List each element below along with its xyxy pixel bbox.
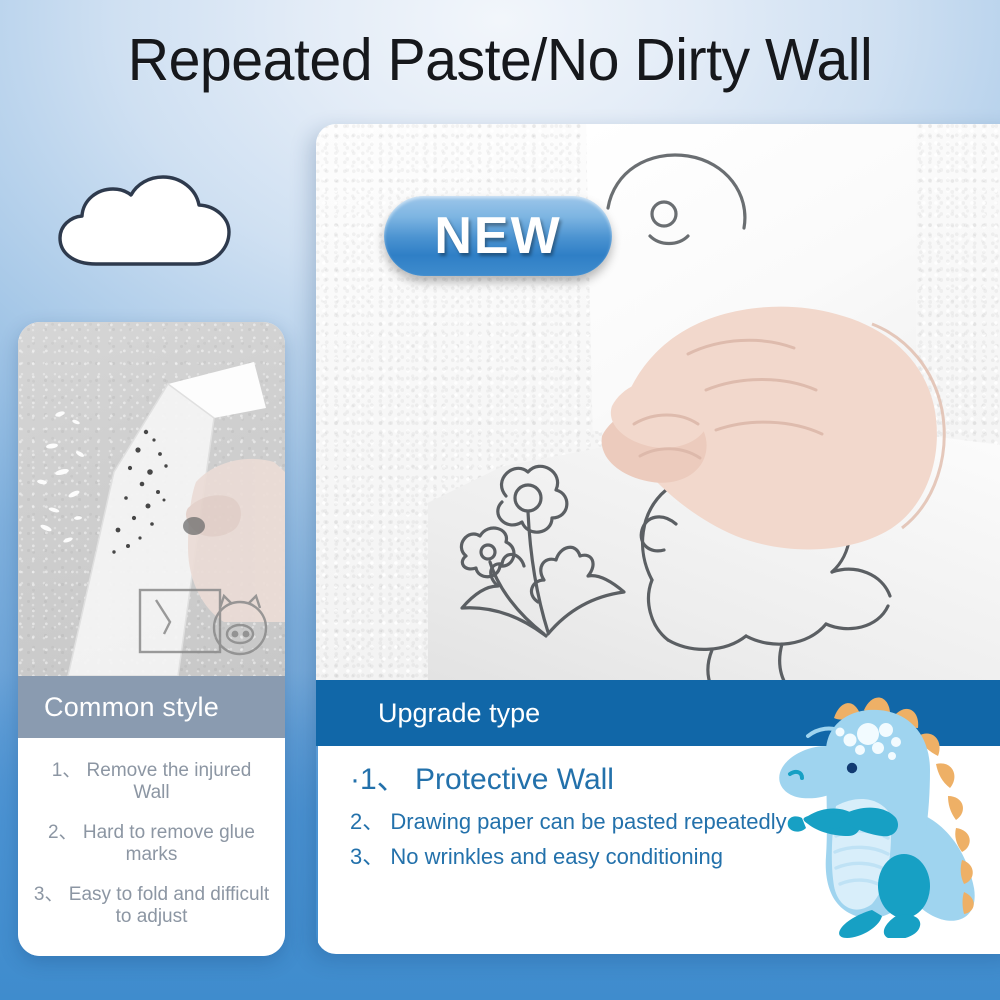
upgrade-type-title: Upgrade type <box>378 698 540 729</box>
common-style-header-band: Common style <box>18 676 285 738</box>
common-style-list: 1、 Remove the injured Wall 2、 Hard to re… <box>18 738 285 956</box>
new-badge: NEW <box>384 196 612 276</box>
peel-illustration <box>18 322 285 676</box>
page-title: Repeated Paste/No Dirty Wall <box>15 26 985 94</box>
list-item-number: 2、 <box>350 809 384 834</box>
list-item-number: 2、 <box>48 822 78 843</box>
dinosaur-mascot-icon <box>768 688 998 938</box>
list-item-text: Protective Wall <box>415 763 614 796</box>
list-item-text: Hard to remove glue marks <box>83 822 255 865</box>
cloud-icon <box>52 172 238 268</box>
new-badge-label: NEW <box>434 206 561 266</box>
common-style-photo <box>18 322 285 676</box>
list-item-text: Drawing paper can be pasted repeatedly <box>390 809 786 834</box>
list-item-text: Remove the injured Wall <box>87 760 252 803</box>
list-item-text: No wrinkles and easy conditioning <box>390 844 723 869</box>
list-item-number: ·1、 <box>350 763 407 796</box>
list-item-text: Easy to fold and difficult to adjust <box>69 884 269 927</box>
list-item-number: 3、 <box>350 844 384 869</box>
list-item-number: 3、 <box>34 884 64 905</box>
list-item: 3、 Easy to fold and difficult to adjust <box>32 884 271 929</box>
list-item: 2、 Hard to remove glue marks <box>32 822 271 867</box>
common-style-card: Common style 1、 Remove the injured Wall … <box>18 322 285 956</box>
list-item-number: 1、 <box>52 760 82 781</box>
common-style-title: Common style <box>44 692 219 723</box>
list-item: 1、 Remove the injured Wall <box>32 760 271 805</box>
